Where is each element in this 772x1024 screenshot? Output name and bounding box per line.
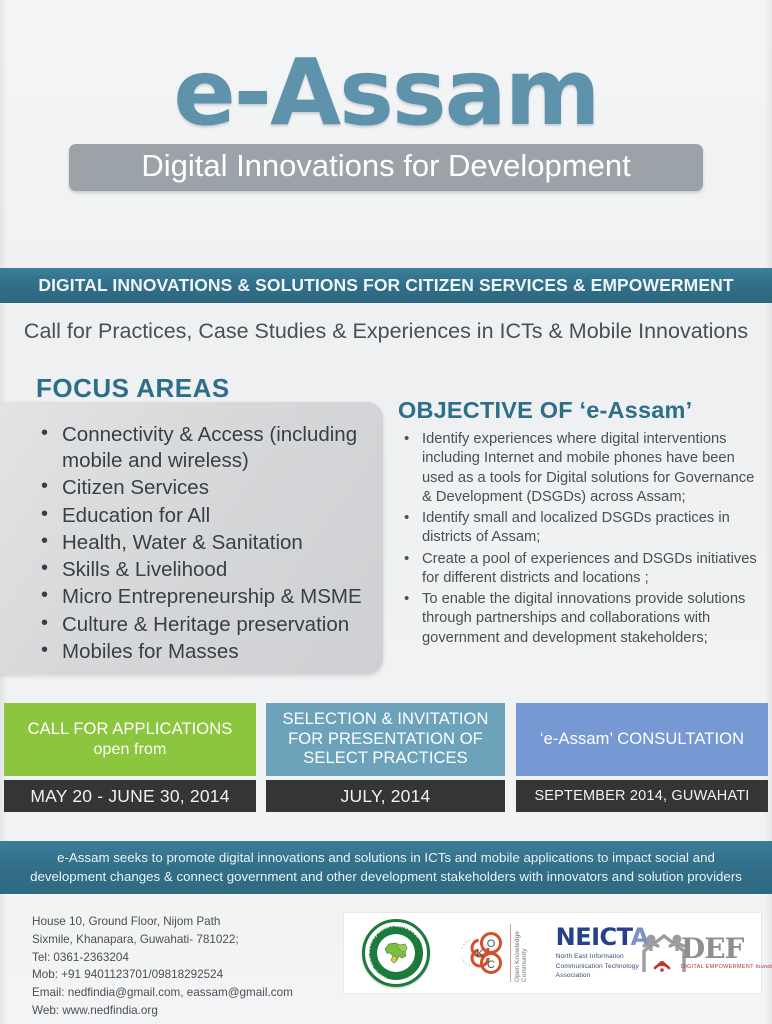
- list-item: •Skills & Livelihood: [38, 557, 378, 583]
- contact-block: House 10, Ground Floor, Nijom Path Sixmi…: [32, 913, 293, 1020]
- brand-tagline-bar: Digital Innovations for Development: [69, 144, 703, 191]
- partner-logos-panel: North East Development Foundation O K: [343, 912, 762, 994]
- headline-band: DIGITAL INNOVATIONS & SOLUTIONS FOR CITI…: [0, 268, 772, 303]
- timeline-stage-selection-invitation: SELECTION & INVITATION FOR PRESENTATION …: [266, 703, 505, 817]
- timeline-stage-title-box: CALL FOR APPLICATIONS open from: [4, 703, 256, 776]
- bullet-icon: •: [404, 429, 409, 449]
- bullet-icon: •: [41, 556, 48, 582]
- objective-item-text: To enable the digital innovations provid…: [422, 591, 745, 646]
- timeline-stage-date-box: SEPTEMBER 2014, GUWAHATI: [516, 780, 768, 812]
- list-item: •Citizen Services: [38, 475, 378, 501]
- list-item: •Education for All: [38, 503, 378, 529]
- bullet-icon: •: [41, 421, 48, 447]
- timeline-stage-call-for-applications: CALL FOR APPLICATIONS open from MAY 20 -…: [4, 703, 256, 817]
- mission-band: e-Assam seeks to promote digital innovat…: [0, 841, 772, 894]
- timeline-stage-date-box: MAY 20 - JUNE 30, 2014: [4, 780, 256, 812]
- timeline-stage-consultation: ‘e-Assam’ CONSULTATION SEPTEMBER 2014, G…: [516, 703, 768, 817]
- contact-website[interactable]: Web: www.nedfindia.org: [32, 1002, 293, 1020]
- partner-logo-okc: O K C Open Knowledge Community: [449, 913, 544, 993]
- focus-item-text: Citizen Services: [62, 476, 209, 499]
- list-item: •Create a pool of experiences and DSGDs …: [400, 550, 758, 589]
- timeline-title-line: FOR PRESENTATION OF: [282, 730, 488, 750]
- focus-item-text: Mobiles for Masses: [62, 640, 239, 663]
- objective-list: •Identify experiences where digital inte…: [400, 430, 758, 650]
- mission-line-1: e-Assam seeks to promote digital innovat…: [57, 850, 715, 865]
- neicta-logo-group: NEICTA North East Information Communicat…: [556, 925, 649, 980]
- timeline-stage-date-box: JULY, 2014: [266, 780, 505, 812]
- def-text-group: DEF DIGITAL EMPOWERMENT foundation: [681, 936, 772, 969]
- timeline-date: JULY, 2014: [341, 786, 431, 807]
- timeline-title-line: open from: [28, 740, 233, 759]
- focus-areas-heading: FOCUS AREAS: [36, 373, 230, 404]
- okc-side-label: Open Knowledge Community: [510, 924, 528, 982]
- nedf-emblem-icon: North East Development Foundation: [362, 919, 430, 987]
- focus-item-text: Health, Water & Sanitation: [62, 531, 303, 554]
- partner-logo-nedf: North East Development Foundation: [344, 913, 449, 993]
- brand-logo: e-Assam Digital Innovations for Developm…: [0, 48, 772, 191]
- okc-letter-k: K: [476, 948, 484, 960]
- list-item: •Connectivity & Access (including mobile…: [38, 422, 378, 474]
- timeline-stage-title-box: SELECTION & INVITATION FOR PRESENTATION …: [266, 703, 505, 776]
- focus-item-text: Skills & Livelihood: [62, 558, 227, 581]
- headline-text: DIGITAL INNOVATIONS & SOLUTIONS FOR CITI…: [38, 275, 733, 296]
- bullet-icon: •: [404, 549, 409, 569]
- brand-title: e-Assam: [0, 48, 772, 138]
- def-sub-caps: DIGITAL EMPOWERMENT: [681, 964, 756, 970]
- footer: House 10, Ground Floor, Nijom Path Sixmi…: [0, 900, 772, 1024]
- timeline-date: SEPTEMBER 2014, GUWAHATI: [534, 788, 749, 804]
- def-wordmark: DEF: [681, 936, 772, 961]
- list-item: •Culture & Heritage preservation: [38, 612, 378, 638]
- focus-item-text: Education for All: [62, 504, 210, 527]
- neicta-sub-line-1: North East Information: [556, 952, 649, 961]
- bullet-icon: •: [41, 583, 48, 609]
- okc-letter-c: C: [487, 959, 495, 971]
- bullet-icon: •: [404, 508, 409, 528]
- focus-item-text: Micro Entrepreneurship & MSME: [62, 585, 362, 608]
- nedf-inner-disc: [377, 934, 415, 972]
- timeline-title-line: ‘e-Assam’ CONSULTATION: [540, 730, 744, 750]
- neicta-subtitle: North East Information Communication Tec…: [556, 952, 649, 980]
- timeline-title-line: CALL FOR APPLICATIONS: [28, 720, 233, 740]
- subheadline-text: Call for Practices, Case Studies & Exper…: [24, 319, 748, 344]
- timeline-stage-title-box: ‘e-Assam’ CONSULTATION: [516, 703, 768, 776]
- bullet-icon: •: [41, 502, 48, 528]
- timeline-title-line: SELECT PRACTICES: [282, 749, 488, 769]
- neicta-word-main: NEICT: [556, 923, 631, 951]
- neicta-sub-line-3: Association: [556, 971, 649, 980]
- bullet-icon: •: [41, 638, 48, 664]
- northeast-india-map-icon: [381, 938, 411, 968]
- list-item: •Micro Entrepreneurship & MSME: [38, 584, 378, 610]
- def-sub-italic: foundation: [755, 964, 772, 970]
- brand-tagline: Digital Innovations for Development: [69, 150, 703, 183]
- contact-mobile: Mob: +91 9401123701/09818292524: [32, 966, 293, 984]
- bullet-icon: •: [41, 529, 48, 555]
- objective-item-text: Identify experiences where digital inter…: [422, 431, 754, 505]
- timeline-date: MAY 20 - JUNE 30, 2014: [30, 786, 229, 807]
- neicta-wordmark: NEICTA: [556, 925, 649, 949]
- poster-root: e-Assam Digital Innovations for Developm…: [0, 0, 772, 1024]
- list-item: •Identify small and localized DSGDs prac…: [400, 509, 758, 548]
- list-item: •To enable the digital innovations provi…: [400, 590, 758, 648]
- list-item: •Mobiles for Masses: [38, 639, 378, 665]
- okc-mark-icon: O K C: [462, 924, 510, 982]
- contact-email[interactable]: Email: nedfindia@gmail.com, eassam@gmail…: [32, 984, 293, 1002]
- contact-address-2: Sixmile, Khanapara, Guwahati- 781022;: [32, 931, 293, 949]
- neicta-sub-line-2: Communication Technology: [556, 962, 649, 971]
- objective-item-text: Create a pool of experiences and DSGDs i…: [422, 551, 757, 586]
- bullet-icon: •: [41, 474, 48, 500]
- partner-logo-def: DEF DIGITAL EMPOWERMENT foundation: [661, 913, 761, 993]
- focus-item-text: Culture & Heritage preservation: [62, 613, 349, 636]
- focus-areas-list: •Connectivity & Access (including mobile…: [38, 422, 378, 666]
- mission-line-2: development changes & connect government…: [30, 869, 742, 884]
- okc-logo-group: O K C Open Knowledge Community: [462, 922, 531, 984]
- timeline-title-line: SELECTION & INVITATION: [282, 710, 488, 730]
- bullet-icon: •: [41, 611, 48, 637]
- focus-item-text: Connectivity & Access (including mobile …: [62, 423, 357, 472]
- objective-item-text: Identify small and localized DSGDs pract…: [422, 510, 730, 545]
- def-logo-group: DEF DIGITAL EMPOWERMENT foundation: [638, 930, 772, 976]
- objective-heading: OBJECTIVE OF ‘e-Assam’: [398, 397, 692, 424]
- def-subtitle: DIGITAL EMPOWERMENT foundation: [681, 964, 772, 970]
- bullet-icon: •: [404, 589, 409, 609]
- contact-address-1: House 10, Ground Floor, Nijom Path: [32, 913, 293, 931]
- list-item: •Health, Water & Sanitation: [38, 530, 378, 556]
- okc-letter-o: O: [486, 938, 495, 950]
- timeline-strip: CALL FOR APPLICATIONS open from MAY 20 -…: [0, 703, 772, 817]
- contact-tel: Tel: 0361-2363204: [32, 949, 293, 967]
- list-item: •Identify experiences where digital inte…: [400, 430, 758, 507]
- subheadline-band: Call for Practices, Case Studies & Exper…: [0, 312, 772, 350]
